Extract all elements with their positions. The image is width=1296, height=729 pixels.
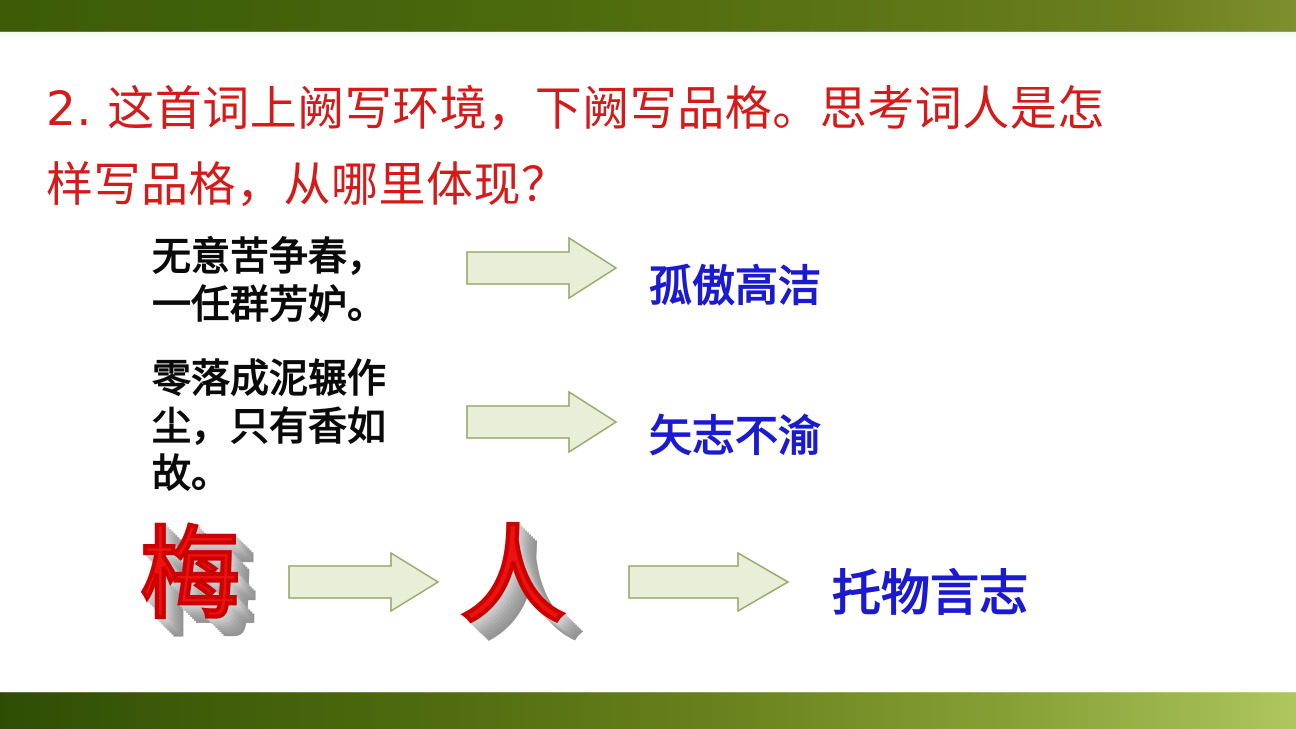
- poem-1-line-2: 一任群芳妒。: [152, 282, 462, 330]
- conclusion-label-3: 托物言志: [832, 554, 1028, 625]
- poem-2-line-1: 零落成泥辗作: [152, 356, 464, 404]
- wordart-character-ren: 人 人: [460, 527, 600, 633]
- right-arrow-icon: [466, 390, 618, 454]
- right-arrow-icon: [288, 551, 440, 613]
- poem-2-line-3: 故。: [152, 451, 464, 499]
- conclusion-label-1: 孤傲高洁: [649, 252, 821, 314]
- poem-1-line-1: 无意苦争春，: [152, 234, 462, 282]
- bottom-decorative-bar: [0, 692, 1296, 729]
- wordart-ren-face: 人: [460, 527, 566, 627]
- conclusion-label-2: 矢志不渝: [649, 402, 821, 464]
- top-bar-edge-highlight: [0, 32, 1296, 39]
- wordart-character-mei: 梅 梅: [140, 525, 290, 633]
- top-decorative-bar: [0, 0, 1296, 32]
- question-line-2: 样写品格，从哪里体现？: [46, 148, 1256, 224]
- right-arrow-icon: [628, 551, 790, 613]
- question-line-1: 2. 这首词上阙写环境，下阙写品格。思考词人是怎: [46, 72, 1256, 148]
- poem-excerpt-2: 零落成泥辗作 尘，只有香如 故。: [152, 356, 464, 499]
- poem-excerpt-1: 无意苦争春， 一任群芳妒。: [152, 234, 462, 329]
- wordart-mei-face: 梅: [140, 525, 240, 625]
- question-heading: 2. 这首词上阙写环境，下阙写品格。思考词人是怎 样写品格，从哪里体现？: [46, 72, 1256, 224]
- right-arrow-icon: [466, 236, 618, 300]
- poem-2-line-2: 尘，只有香如: [152, 404, 464, 452]
